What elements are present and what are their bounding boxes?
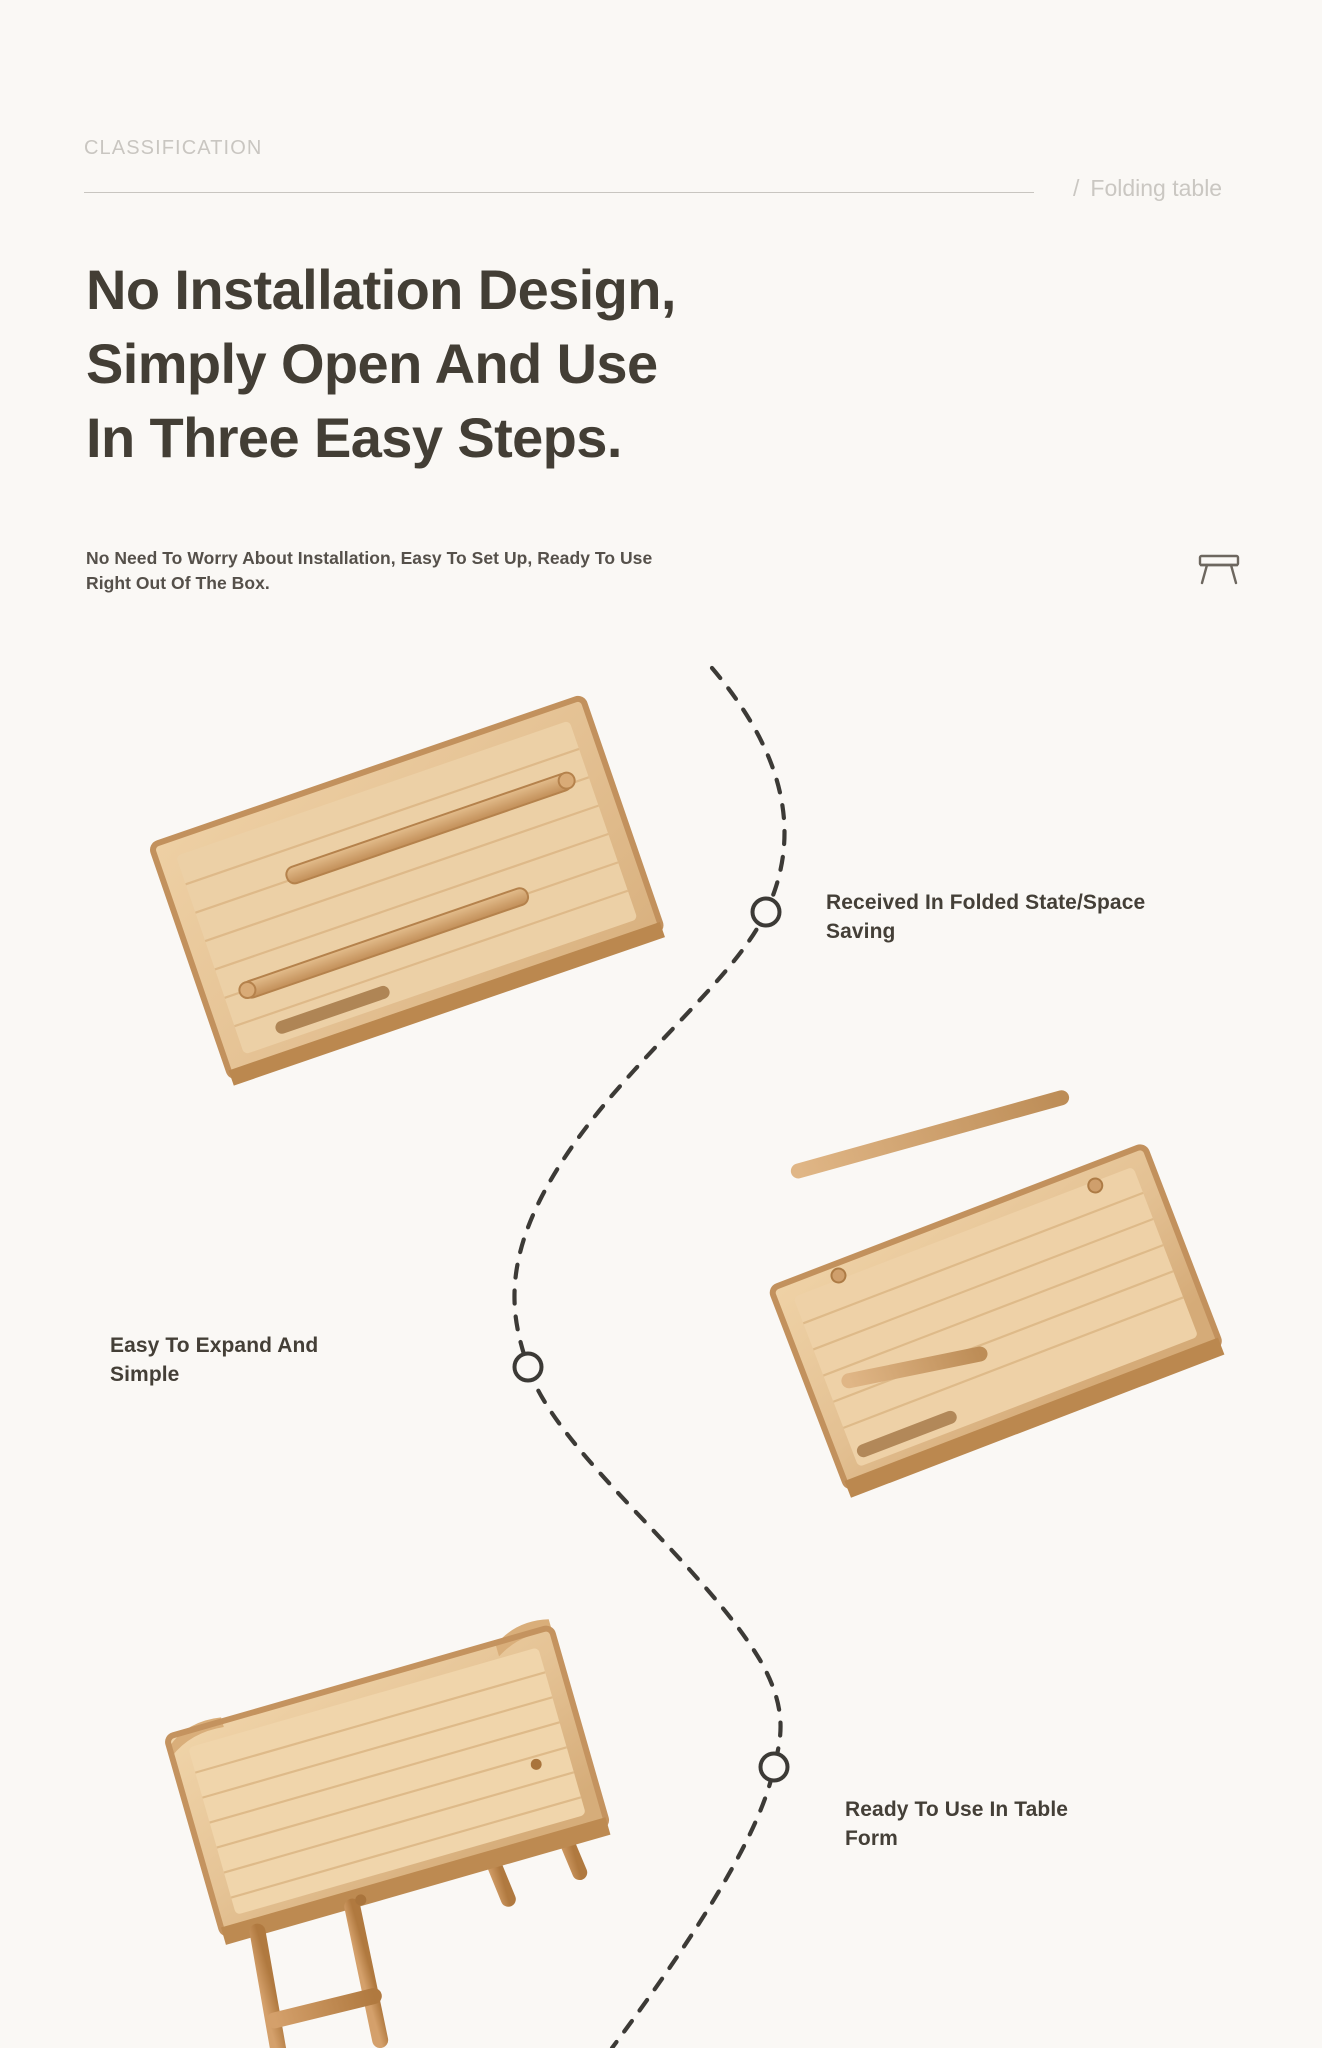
- breadcrumb-label: Folding table: [1090, 175, 1222, 201]
- step-caption-ready-line-2: Form: [845, 1824, 1245, 1853]
- step-caption-folded-line-2: Saving: [826, 917, 1266, 946]
- assembled-table-photo: [140, 1590, 660, 2048]
- page-subtitle-line-1: No Need To Worry About Installation, Eas…: [86, 546, 806, 571]
- header-divider: [84, 192, 1034, 193]
- section-eyebrow: CLASSIFICATION: [84, 137, 262, 160]
- step-caption-expand-line-2: Simple: [110, 1360, 510, 1389]
- step-caption-ready-line-1: Ready To Use In Table: [845, 1795, 1245, 1824]
- page-title-line-3: In Three Easy Steps.: [86, 401, 906, 475]
- step-caption-expand: Easy To Expand And Simple: [110, 1331, 510, 1389]
- page-subtitle: No Need To Worry About Installation, Eas…: [86, 546, 806, 596]
- step-caption-folded-line-1: Received In Folded State/Space: [826, 888, 1266, 917]
- breadcrumb: /Folding table: [1073, 175, 1222, 202]
- step-node-3: [761, 1754, 788, 1781]
- half-unfolded-tray-photo: [660, 1040, 1280, 1560]
- folding-table-icon: [1196, 548, 1242, 588]
- page-title-line-2: Simply Open And Use: [86, 327, 906, 401]
- step-caption-expand-line-1: Easy To Expand And: [110, 1331, 510, 1360]
- breadcrumb-separator: /: [1073, 175, 1079, 201]
- step-caption-folded: Received In Folded State/Space Saving: [826, 888, 1266, 946]
- step-node-2: [515, 1354, 542, 1381]
- page-title-line-1: No Installation Design,: [86, 253, 906, 327]
- page-title: No Installation Design, Simply Open And …: [86, 253, 906, 475]
- step-node-1: [753, 899, 780, 926]
- page-subtitle-line-2: Right Out Of The Box.: [86, 571, 806, 596]
- step-caption-ready: Ready To Use In Table Form: [845, 1795, 1245, 1853]
- folded-tray-photo: [130, 672, 690, 1122]
- product-infographic-page: CLASSIFICATION /Folding table No Install…: [0, 0, 1322, 2048]
